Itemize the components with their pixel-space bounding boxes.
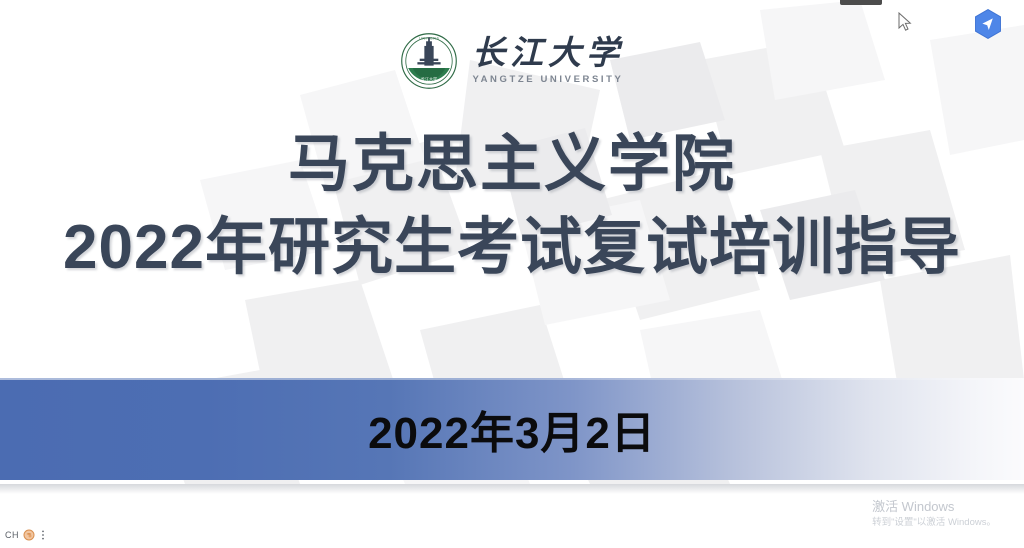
- hexagon-cursor-icon[interactable]: [972, 8, 1004, 40]
- yangtze-university-seal-icon: U N I V E R S 长江大学: [400, 32, 458, 90]
- page-subtitle: 2022年研究生考试复试培训指导: [0, 211, 1024, 284]
- desktop-background: 激活 Windows 转到"设置"以激活 Windows。 CH: [0, 484, 1024, 548]
- presentation-slide[interactable]: U N I V E R S 长江大学 长江大学 YANGTZE UNIVERSI…: [0, 0, 1024, 484]
- vertical-dots-icon[interactable]: [39, 529, 47, 541]
- slide-title-block: 马克思主义学院 2022年研究生考试复试培训指导: [0, 128, 1024, 284]
- logo-chinese-name: 长江大学: [472, 37, 624, 72]
- ime-language-label[interactable]: CH: [5, 531, 19, 540]
- logo-english-name: YANGTZE UNIVERSITY: [473, 74, 624, 85]
- watermark-title: 激活 Windows: [872, 499, 996, 515]
- svg-text:长江大学: 长江大学: [421, 76, 437, 82]
- sogou-ime-icon[interactable]: [23, 529, 35, 541]
- logo-wordmark: 长江大学 YANGTZE UNIVERSITY: [472, 37, 624, 86]
- svg-text:U N I V E R S: U N I V E R S: [419, 37, 438, 41]
- page-title: 马克思主义学院: [0, 128, 1024, 201]
- collapsed-toolbar-handle[interactable]: [840, 0, 882, 5]
- date-band: 2022年3月2日: [0, 378, 1024, 480]
- windows-activation-watermark: 激活 Windows 转到"设置"以激活 Windows。: [872, 499, 996, 529]
- university-logo-lockup: U N I V E R S 长江大学 长江大学 YANGTZE UNIVERSI…: [0, 32, 1024, 90]
- slide-date: 2022年3月2日: [368, 397, 656, 461]
- ime-language-bar[interactable]: CH: [2, 528, 50, 542]
- watermark-subtitle: 转到"设置"以激活 Windows。: [872, 517, 996, 529]
- slide-drop-shadow: [0, 484, 1024, 494]
